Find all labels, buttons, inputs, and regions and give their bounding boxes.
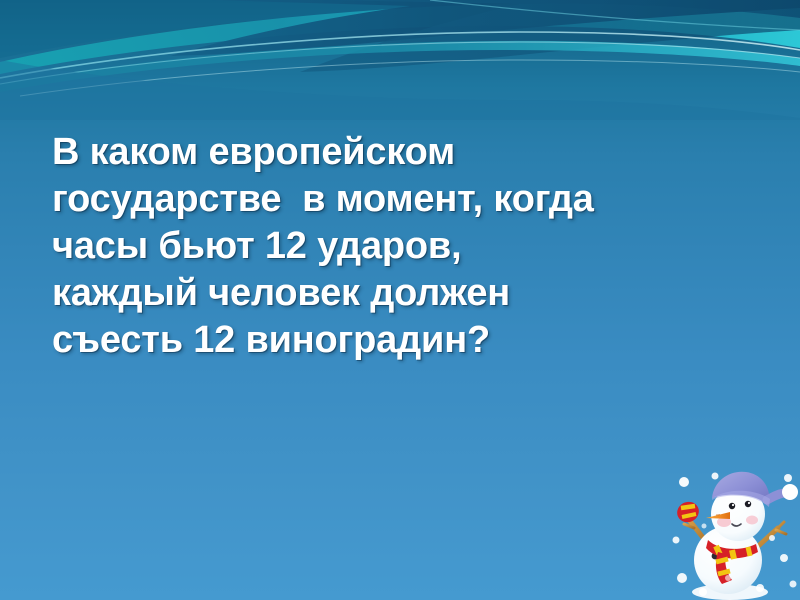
snowflake-1 — [679, 477, 689, 487]
snowman-illustration — [668, 466, 800, 600]
snowflake-2 — [712, 473, 719, 480]
snowflake-8 — [780, 554, 788, 562]
scarf-stripe-2 — [732, 550, 734, 559]
snowflake-5 — [677, 573, 687, 583]
hat-pompom — [782, 484, 798, 500]
question-line-4: каждый человек должен — [52, 270, 752, 317]
right-cheek — [746, 516, 758, 525]
question-line-3: часы бьют 12 ударов, — [52, 223, 752, 270]
snowflake-12 — [702, 524, 707, 529]
left-eye — [729, 503, 735, 509]
snowflake-10 — [769, 535, 775, 541]
scarf-tail-stripe-2 — [718, 571, 730, 574]
left-eye-glint — [732, 504, 734, 506]
snowflake-9 — [790, 581, 797, 588]
snowflake-11 — [725, 575, 731, 581]
wave-decoration — [0, 0, 800, 120]
question-text: В каком европейском государстве в момент… — [52, 129, 752, 364]
question-line-2: государстве в момент, когда — [52, 176, 752, 223]
presentation-slide: В каком европейском государстве в момент… — [0, 0, 800, 600]
mitten — [674, 498, 702, 525]
scarf-tail-stripe-1 — [716, 559, 728, 562]
snowflake-6 — [699, 588, 707, 596]
right-eye-glint — [748, 502, 750, 504]
question-line-5: съесть 12 виноградин? — [52, 317, 752, 364]
snowflake-4 — [673, 537, 680, 544]
snowflake-7 — [756, 584, 764, 592]
snowflake-3 — [784, 474, 792, 482]
question-line-1: В каком европейском — [52, 129, 752, 176]
right-eye — [745, 501, 751, 507]
right-arm-twig-b — [776, 530, 786, 534]
scarf-stripe-3 — [748, 547, 750, 556]
mitten-stripe-1 — [681, 506, 695, 508]
